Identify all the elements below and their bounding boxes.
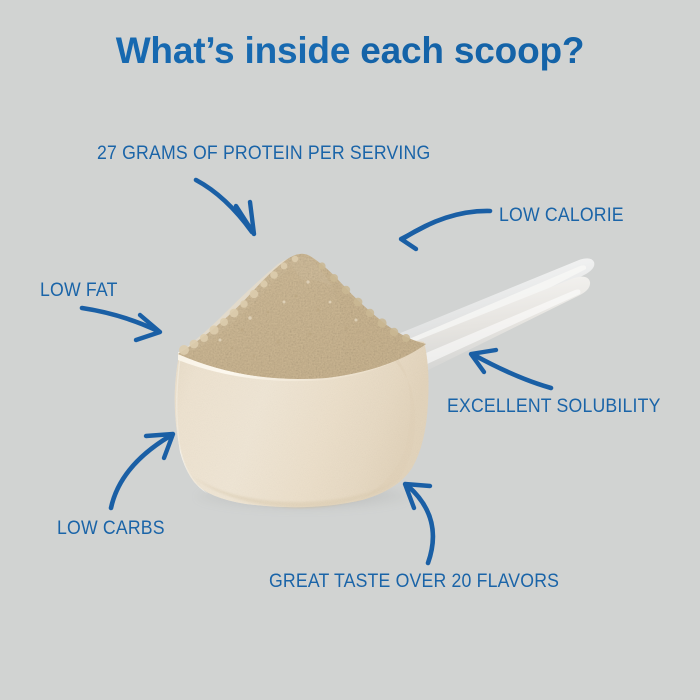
page-title-light: What’s inside <box>116 30 361 71</box>
callout-label-low-fat: LOW FAT <box>40 280 118 302</box>
callout-label-great-taste: GREAT TASTE OVER 20 FLAVORS <box>269 571 559 593</box>
callout-label-protein: 27 GRAMS OF PROTEIN PER SERVING <box>97 143 430 165</box>
arrow-low-fat <box>82 308 160 340</box>
infographic-canvas: What’s inside each scoop? <box>0 0 700 700</box>
powder-mound <box>178 254 426 379</box>
protein-scoop-image <box>150 238 600 518</box>
page-title: What’s inside each scoop? <box>0 28 700 74</box>
callout-label-low-calorie: LOW CALORIE <box>499 205 624 227</box>
callout-label-low-carbs: LOW CARBS <box>57 518 165 540</box>
page-title-bold: each scoop? <box>360 30 584 71</box>
callout-label-excellent-solubility: EXCELLENT SOLUBILITY <box>447 396 661 418</box>
arrow-protein <box>196 180 254 234</box>
